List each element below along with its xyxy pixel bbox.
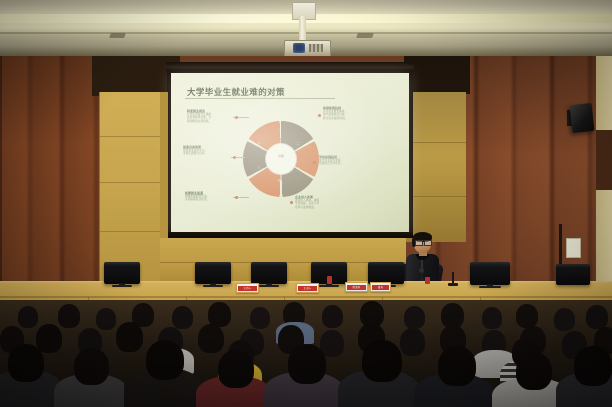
donut-segment-label: 五 (252, 165, 266, 169)
wall-notice-plate (566, 238, 581, 258)
nameplate-text: 主持人 (244, 286, 252, 290)
nameplate-strip: 院领导 (347, 285, 366, 290)
nameplate-strip: 主讲人 (298, 286, 317, 291)
note-mid-left: 提高自身素质 加强专业知识学习， 注重实践能力培养。 (183, 145, 239, 156)
note-bottom-right: 企业用人改革 改革用人机制，破除 学历歧视，完善人才 培养与使用制度。 (295, 195, 397, 209)
note-top-right: 政府政策扶持 完善就业服务体系， 加大政策扶持力度， 健全就业保障机制。 (323, 106, 401, 120)
note-top-left: 转变就业观念 毕业生应树立正确的 就业观和择业观，合 理调整就业期望值。 (187, 109, 239, 123)
nameplate-text: 院领导 (353, 285, 361, 289)
slide-title-underline (185, 98, 335, 99)
desk-monitor (470, 262, 510, 285)
donut-segment-label: 二 (291, 141, 305, 145)
donut-segment-label: 三 (291, 165, 305, 169)
note-mid-right: 学校加强指导 健全就业指导课程， 搭建校企合作平台。 (319, 155, 391, 166)
donut-center-label: 对策 (266, 154, 296, 158)
desk-lip (0, 296, 612, 298)
desk-cup (425, 277, 430, 284)
lecture-hall-photo: 大学毕业生就业难的对策 对策 一 二 (0, 0, 612, 407)
desk-monitor (195, 262, 231, 284)
nameplate: 主持人 (236, 283, 259, 293)
slide-title: 大学毕业生就业难的对策 (187, 86, 285, 98)
note-bullet-icon (233, 156, 236, 159)
monitor-base (479, 286, 501, 288)
desk-microphone-base (448, 283, 458, 286)
projector-vent-icon (309, 44, 323, 52)
desk-monitor (251, 262, 287, 284)
note-bullet-icon (313, 161, 316, 164)
glasses-lens-left (415, 240, 423, 246)
donut-segment-label: 一 (272, 128, 286, 132)
donut-segment-label: 四 (272, 178, 286, 182)
desk-monitor (556, 264, 590, 285)
monitor-base (319, 285, 339, 287)
monitor-base (112, 285, 132, 287)
nameplate-text: 嘉宾 (378, 285, 383, 289)
audience-shading (0, 300, 612, 407)
note-body: 改革用人机制，破除 学历歧视，完善人才 培养与使用制度。 (295, 199, 397, 209)
note-body: 毕业生应树立正确的 就业观和择业观，合 理调整就业期望值。 (187, 113, 239, 123)
nameplate: 院领导 (345, 282, 368, 292)
ceiling-vent-left-icon (109, 33, 126, 38)
projection-screen: 大学毕业生就业难的对策 对策 一 二 (171, 73, 409, 233)
nameplate-strip: 嘉宾 (372, 285, 389, 290)
desk-monitor (104, 262, 140, 284)
note-body: 积极参加招聘活动， 主动获取就业信息。 (185, 195, 239, 202)
projector-lens-icon (293, 43, 305, 53)
projector-mount-pole (299, 16, 306, 42)
donut-center-hole (266, 144, 296, 174)
monitor-base (203, 285, 223, 287)
note-body: 健全就业指导课程， 搭建校企合作平台。 (319, 159, 391, 166)
ceiling-seam (0, 32, 612, 34)
note-bullet-icon (290, 201, 293, 204)
microphone-head-icon (419, 268, 424, 273)
ceiling-vent-right-icon (356, 33, 374, 38)
note-bottom-left: 拓宽就业渠道 积极参加招聘活动， 主动获取就业信息。 (185, 191, 239, 202)
wall-far-edge-dark (596, 130, 612, 190)
wall-speaker-icon (570, 103, 595, 133)
glasses-lens-right (424, 240, 432, 246)
note-bullet-icon (318, 114, 321, 117)
note-body: 完善就业服务体系， 加大政策扶持力度， 健全就业保障机制。 (323, 110, 401, 120)
wall-trim-strip (559, 224, 562, 264)
audience (0, 300, 612, 407)
nameplate: 嘉宾 (370, 282, 391, 292)
note-bullet-icon (235, 116, 238, 119)
nameplate-text: 主讲人 (304, 286, 312, 290)
desk-cup (327, 276, 332, 284)
nameplate: 主讲人 (296, 283, 319, 293)
desk-monitor (368, 262, 404, 284)
note-bullet-icon (235, 196, 238, 199)
monitor-base (259, 285, 279, 287)
note-body: 加强专业知识学习， 注重实践能力培养。 (183, 149, 239, 156)
donut-segment-label: 六 (252, 141, 266, 145)
nameplate-strip: 主持人 (238, 286, 257, 291)
